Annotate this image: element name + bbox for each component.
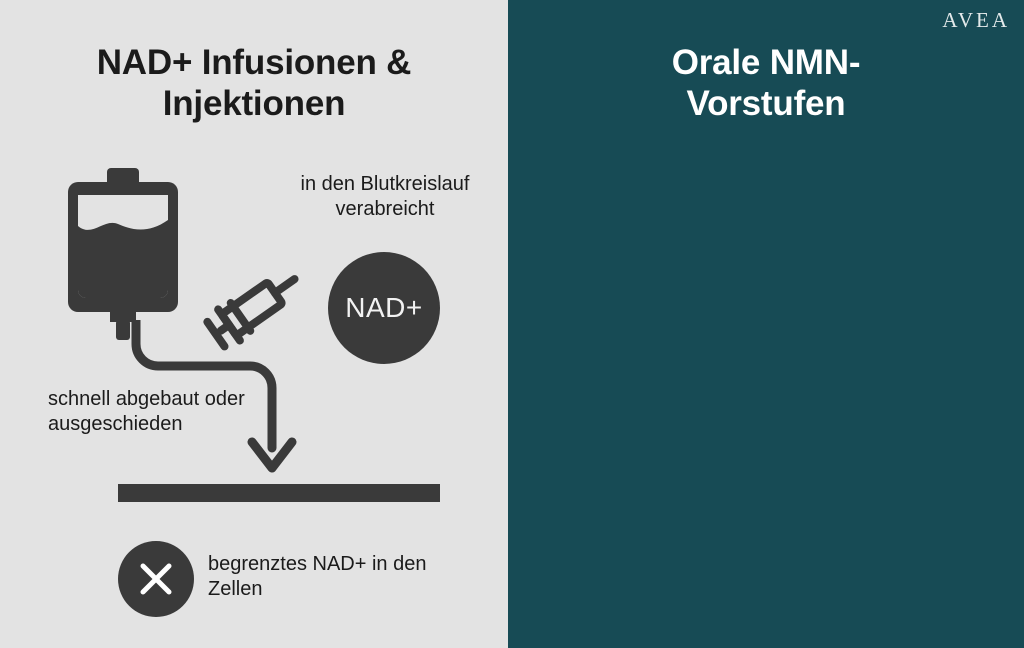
page-title-right: Orale NMN-Vorstufen [508, 42, 1024, 125]
page-title-left: NAD+ Infusionen & Injektionen [0, 42, 508, 125]
avea-logo: AVEA [942, 10, 1010, 31]
panel-nad-infusions: NAD+ Infusionen & Injektionen [0, 0, 508, 648]
label-limited-nad: begrenztes NAD+ in den Zellen [208, 552, 458, 602]
infographic-root: NAD+ Infusionen & Injektionen [0, 0, 1024, 648]
iv-bag-icon [68, 168, 178, 343]
cell-membrane-bar [118, 484, 440, 502]
label-degraded: schnell abgebaut oder ausgeschieden [48, 387, 278, 437]
label-bloodstream: in den Blutkreislauf verabreicht [270, 172, 500, 222]
x-circle-icon [118, 541, 194, 617]
panel-oral-nmn: AVEA Orale NMN-Vorstufen [508, 0, 1024, 648]
